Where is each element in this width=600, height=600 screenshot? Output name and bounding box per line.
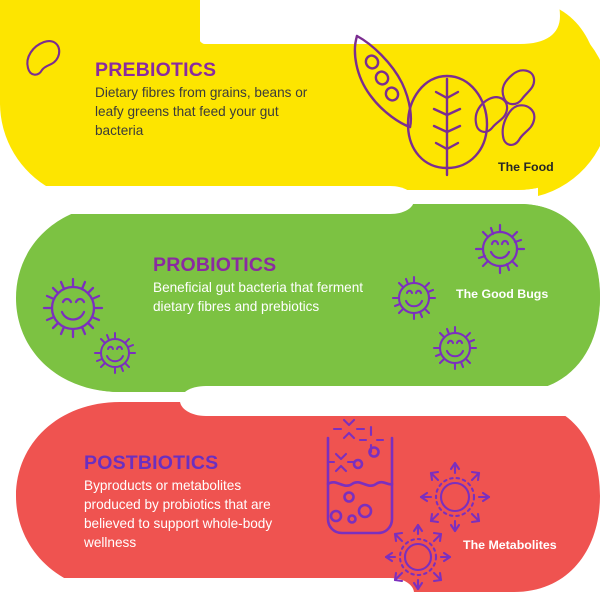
band-notch-top — [194, 0, 560, 44]
section-heading-probiotics: PROBIOTICS — [153, 255, 373, 276]
section-tag-postbiotics: The Metabolites — [463, 538, 557, 552]
section-body-prebiotics: Dietary fibres from grains, beans or lea… — [95, 84, 321, 140]
section-body-probiotics: Beneficial gut bacteria that ferment die… — [153, 279, 373, 317]
section-text-prebiotics: PREBIOTICS Dietary fibres from grains, b… — [95, 60, 321, 141]
band-divider-bottom-bar — [180, 386, 600, 416]
band-divider-top — [0, 186, 414, 214]
gut-health-infographic: PREBIOTICS Dietary fibres from grains, b… — [0, 0, 600, 600]
section-body-postbiotics: Byproducts or metabolites produced by pr… — [84, 477, 299, 552]
section-text-postbiotics: POSTBIOTICS Byproducts or metabolites pr… — [84, 453, 299, 552]
section-heading-prebiotics: PREBIOTICS — [95, 60, 321, 81]
section-tag-prebiotics: The Food — [498, 160, 554, 174]
band-bottom-bar — [0, 578, 414, 600]
section-text-probiotics: PROBIOTICS Beneficial gut bacteria that … — [153, 255, 373, 317]
section-tag-probiotics: The Good Bugs — [456, 287, 548, 301]
section-heading-postbiotics: POSTBIOTICS — [84, 453, 299, 474]
